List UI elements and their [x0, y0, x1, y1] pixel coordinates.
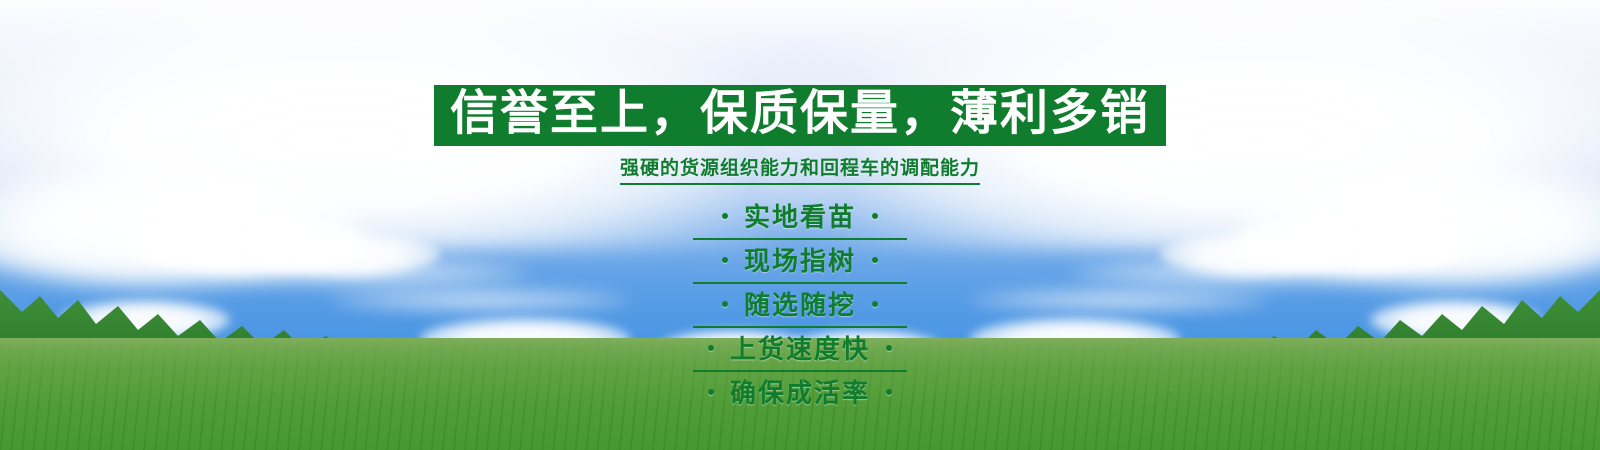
feature-item-2: 现场指树 [722, 238, 878, 282]
feature-item-1: 实地看苗 [722, 194, 878, 238]
feature-item-4: 上货速度快 [708, 326, 892, 370]
bullet-dot-right-icon [886, 389, 892, 395]
banner-content: 信誉至上，保质保量，薄利多销 强硬的货源组织能力和回程车的调配能力 实地看苗 现… [0, 0, 1600, 414]
bullet-dot-right-icon [872, 301, 878, 307]
bullet-dot-left-icon [722, 301, 728, 307]
bullet-dot-left-icon [722, 257, 728, 263]
headline-text: 信誉至上，保质保量，薄利多销 [450, 89, 1150, 137]
feature-label: 现场指树 [744, 241, 856, 278]
promo-banner: 信誉至上，保质保量，薄利多销 强硬的货源组织能力和回程车的调配能力 实地看苗 现… [0, 0, 1600, 450]
bullet-dot-left-icon [722, 213, 728, 219]
feature-label: 实地看苗 [744, 197, 856, 234]
bullet-dot-left-icon [708, 345, 714, 351]
feature-label: 确保成活率 [730, 373, 870, 410]
bullet-dot-left-icon [708, 389, 714, 395]
feature-label: 上货速度快 [730, 329, 870, 366]
feature-label: 随选随挖 [744, 285, 856, 322]
bullet-dot-right-icon [872, 213, 878, 219]
feature-item-3: 随选随挖 [722, 282, 878, 326]
subtitle-text: 强硬的货源组织能力和回程车的调配能力 [620, 153, 980, 185]
subtitle-wrap: 强硬的货源组织能力和回程车的调配能力 [620, 153, 980, 185]
feature-list: 实地看苗 现场指树 随选随挖 上货速度快 确保成活率 [708, 194, 892, 414]
headline-bar: 信誉至上，保质保量，薄利多销 [434, 85, 1166, 146]
bullet-dot-right-icon [872, 257, 878, 263]
bullet-dot-right-icon [886, 345, 892, 351]
feature-item-5: 确保成活率 [708, 370, 892, 414]
